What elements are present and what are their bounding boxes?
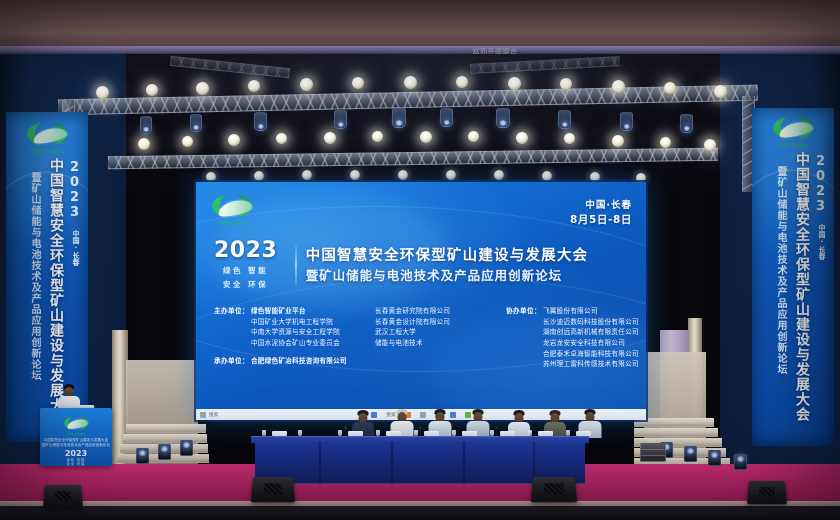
stage-par-light bbox=[300, 78, 313, 91]
windows-icon[interactable] bbox=[200, 412, 206, 418]
host-label: 主办单位： bbox=[214, 306, 249, 316]
stage-par-light bbox=[352, 77, 364, 89]
moving-head-light bbox=[254, 112, 267, 131]
moving-head-light bbox=[558, 110, 571, 129]
stage-par-light bbox=[542, 171, 552, 181]
organizers-left: 主办单位： 绿色智能矿业平台 中国矿业大学机电工程学院 中南大学资源与安全工程学… bbox=[214, 306, 500, 370]
water-glass bbox=[490, 430, 494, 436]
coorganizer-item: 龙岩龙安安全科技有限公司 bbox=[543, 338, 639, 349]
banner-right-year: 2023 bbox=[813, 154, 828, 214]
table-microphone bbox=[420, 428, 421, 436]
screen-location: 中国·长春 bbox=[570, 200, 632, 213]
water-glass bbox=[414, 430, 418, 436]
podium-logo: GIM China bbox=[64, 416, 88, 436]
stage-par-light bbox=[612, 135, 624, 147]
organizers-right: 协办单位： 飞翼股份有限公司 长沙迪迈数码科技股份有限公司 湖南创远高新机械有限… bbox=[500, 306, 639, 370]
taskbar-left-group: 搜索 bbox=[200, 412, 219, 418]
stage-monitor-speaker bbox=[43, 485, 83, 508]
coorganizer-label: 协办单位： bbox=[506, 306, 541, 316]
stage-par-light bbox=[324, 132, 336, 144]
name-plate bbox=[348, 431, 363, 436]
stage-par-light bbox=[372, 131, 383, 142]
water-glass bbox=[338, 430, 342, 436]
floor-moving-head bbox=[684, 446, 697, 462]
stage-par-light bbox=[398, 170, 408, 180]
water-glass bbox=[376, 430, 380, 436]
name-plate bbox=[462, 431, 477, 436]
moving-head-light bbox=[392, 108, 406, 128]
host-column-1: 绿色智能矿业平台 中国矿业大学机电工程学院 中南大学资源与安全工程学院 中国水泥… bbox=[249, 306, 375, 349]
name-plate bbox=[386, 431, 401, 436]
stage-par-light bbox=[612, 80, 625, 93]
coorganizer-item: 湖南创远高新机械有限责任公司 bbox=[543, 327, 639, 338]
stage-par-light bbox=[248, 80, 260, 92]
screen-dates: 8月5日-8日 bbox=[570, 213, 632, 227]
stage-par-light bbox=[302, 170, 312, 180]
undertaker-label: 承办单位： bbox=[214, 356, 249, 366]
screen-location-block: 中国·长春 8月5日-8日 bbox=[570, 200, 632, 227]
table-microphone bbox=[496, 428, 497, 436]
water-glass bbox=[528, 430, 532, 436]
moving-head-light bbox=[140, 116, 152, 134]
title-divider bbox=[295, 245, 296, 285]
water-glass bbox=[298, 430, 302, 436]
host-item: 长春黄金研究院有限公司 bbox=[375, 306, 500, 317]
stage-par-light bbox=[508, 77, 521, 90]
screen-title-bar: 2023 绿色 智能 安全 环保 中国智慧安全环保型矿山建设与发展大会 暨矿山储… bbox=[214, 240, 632, 291]
screen-gim-logo: GIM China bbox=[212, 194, 252, 228]
stage-par-light bbox=[664, 82, 676, 94]
stage-front-face bbox=[0, 506, 840, 520]
coorganizer-list: 飞翼股份有限公司 长沙迪迈数码科技股份有限公司 湖南创远高新机械有限责任公司 龙… bbox=[541, 306, 639, 370]
stage-par-light bbox=[660, 137, 671, 148]
stage-par-light bbox=[420, 131, 432, 143]
podium-slogan-2: 安全 环保 bbox=[40, 462, 112, 466]
moving-head-light bbox=[440, 108, 453, 127]
conference-stage-photo: 欢迎莅临指导 bbox=[0, 0, 840, 520]
floor-moving-head bbox=[180, 440, 193, 456]
banner-right-location: 中国·长春 bbox=[817, 224, 827, 260]
banner-left-year: 2023 bbox=[67, 160, 82, 220]
host-item: 绿色智能矿业平台 bbox=[251, 306, 375, 317]
name-plate bbox=[272, 431, 287, 436]
moving-head-light bbox=[496, 108, 510, 128]
stage-par-light bbox=[456, 76, 468, 88]
banner-left-title-sub: 暨矿山储能与电池技术及产品应用创新论坛 bbox=[27, 172, 42, 381]
podium-year: 2023 bbox=[40, 449, 112, 458]
water-glass bbox=[452, 430, 456, 436]
screen-year: 2023 bbox=[214, 240, 277, 262]
host-item: 中国水泥协会矿山专业委员会 bbox=[251, 338, 375, 349]
host-item: 储能与电池技术 bbox=[375, 338, 500, 349]
stage-par-light bbox=[446, 170, 456, 180]
taskbar-search-label[interactable]: 搜索 bbox=[209, 412, 219, 418]
gim-wordmark: GIM China bbox=[212, 222, 252, 228]
moving-head-light bbox=[334, 110, 347, 129]
coorganizer-item: 飞翼股份有限公司 bbox=[543, 306, 639, 317]
stage-par-light bbox=[516, 132, 528, 144]
floor-moving-head bbox=[734, 454, 747, 470]
host-item: 长春黄金设计院有限公司 bbox=[375, 317, 500, 328]
dark-hall-backdrop bbox=[0, 54, 840, 194]
water-glass bbox=[262, 430, 266, 436]
name-plate bbox=[424, 431, 439, 436]
name-plate bbox=[538, 431, 553, 436]
stage-par-light bbox=[714, 85, 727, 98]
coorganizer-item: 苏州理工雷科传感技术有限公司 bbox=[543, 359, 639, 370]
stage-par-light bbox=[182, 136, 193, 147]
screen-slogan-1: 绿色 智能 bbox=[214, 265, 277, 276]
stage-par-light bbox=[96, 86, 109, 99]
screen-titles: 中国智慧安全环保型矿山建设与发展大会 暨矿山储能与电池技术及产品应用创新论坛 bbox=[306, 247, 632, 283]
banner-left-location: 中国·长春 bbox=[71, 230, 81, 266]
stage-par-light bbox=[564, 133, 575, 144]
stage-monitor-speaker bbox=[531, 477, 577, 502]
stage-par-light bbox=[704, 139, 716, 151]
host-item: 中南大学资源与安全工程学院 bbox=[251, 327, 375, 338]
stage-par-light bbox=[196, 82, 209, 95]
stage-monitor-speaker bbox=[251, 477, 295, 502]
banner-right-title-main: 中国智慧安全环保型矿山建设与发展大会 bbox=[792, 152, 812, 422]
floor-moving-head bbox=[708, 450, 721, 466]
podium: GIM China 中国智慧安全环保型矿山建设与发展大会 暨矿山储能与电池技术及… bbox=[40, 408, 112, 466]
screen-organizers: 主办单位： 绿色智能矿业平台 中国矿业大学机电工程学院 中南大学资源与安全工程学… bbox=[214, 306, 634, 370]
name-plate bbox=[500, 431, 515, 436]
screen-year-block: 2023 绿色 智能 安全 环保 bbox=[214, 240, 286, 291]
stage-par-light bbox=[590, 172, 600, 182]
gim-wordmark: GIM China bbox=[64, 433, 88, 436]
stage-par-light bbox=[138, 138, 150, 150]
table-microphone bbox=[345, 428, 346, 436]
screen-title-main: 中国智慧安全环保型矿山建设与发展大会 bbox=[306, 247, 632, 265]
undertaker-item: 合肥绿色矿冶科技咨询有限公司 bbox=[249, 356, 347, 367]
coorganizer-row: 协办单位： 飞翼股份有限公司 长沙迪迈数码科技股份有限公司 湖南创远高新机械有限… bbox=[506, 306, 639, 370]
stage-monitor-speaker bbox=[747, 481, 787, 504]
host-item: 中国矿业大学机电工程学院 bbox=[251, 317, 375, 328]
name-plate bbox=[576, 431, 591, 436]
stage-par-light bbox=[254, 171, 264, 181]
stage-par-light bbox=[404, 76, 417, 89]
moving-head-light bbox=[190, 114, 202, 132]
stage-par-light bbox=[276, 133, 287, 144]
stage-par-light bbox=[494, 170, 504, 180]
moving-head-light bbox=[680, 114, 693, 133]
stage-par-light bbox=[146, 84, 158, 96]
floor-moving-head bbox=[136, 448, 149, 464]
stage-par-light bbox=[350, 170, 360, 180]
moving-head-light bbox=[620, 112, 633, 131]
mail-icon[interactable] bbox=[420, 412, 426, 418]
banner-right: GIM China 2023 中国·长春 中国智慧安全环保型矿山建设与发展大会 … bbox=[752, 108, 834, 446]
coorganizer-item: 长沙迪迈数码科技股份有限公司 bbox=[543, 317, 639, 328]
host-row: 主办单位： 绿色智能矿业平台 中国矿业大学机电工程学院 中南大学资源与安全工程学… bbox=[214, 306, 500, 349]
host-item: 武汉工程大学 bbox=[375, 327, 500, 338]
screen-slogan-2: 安全 环保 bbox=[214, 279, 277, 290]
floor-moving-head bbox=[158, 444, 171, 460]
stage-par-light bbox=[560, 78, 572, 90]
coorganizer-item: 合肥泰禾卓海智能科技有限公司 bbox=[543, 349, 639, 360]
host-column-2: 长春黄金研究院有限公司 长春黄金设计院有限公司 武汉工程大学 储能与电池技术 bbox=[375, 306, 500, 349]
stage-par-light bbox=[228, 134, 240, 146]
banner-right-title-sub: 暨矿山储能与电池技术及产品应用创新论坛 bbox=[773, 166, 788, 375]
podium-line-2: 暨矿山储能与电池技术及产品应用创新论坛 bbox=[40, 443, 112, 448]
stage-par-light bbox=[206, 172, 216, 182]
ceiling-slab bbox=[0, 0, 840, 46]
led-screen: GIM China 中国·长春 8月5日-8日 2023 绿色 智能 安全 环保… bbox=[196, 182, 646, 420]
flight-case bbox=[640, 443, 666, 462]
stage-par-light bbox=[468, 131, 479, 142]
water-glass bbox=[566, 430, 570, 436]
screen-title-sub: 暨矿山储能与电池技术及产品应用创新论坛 bbox=[306, 268, 632, 284]
undertaker-row: 承办单位： 合肥绿色矿冶科技咨询有限公司 bbox=[214, 356, 500, 367]
